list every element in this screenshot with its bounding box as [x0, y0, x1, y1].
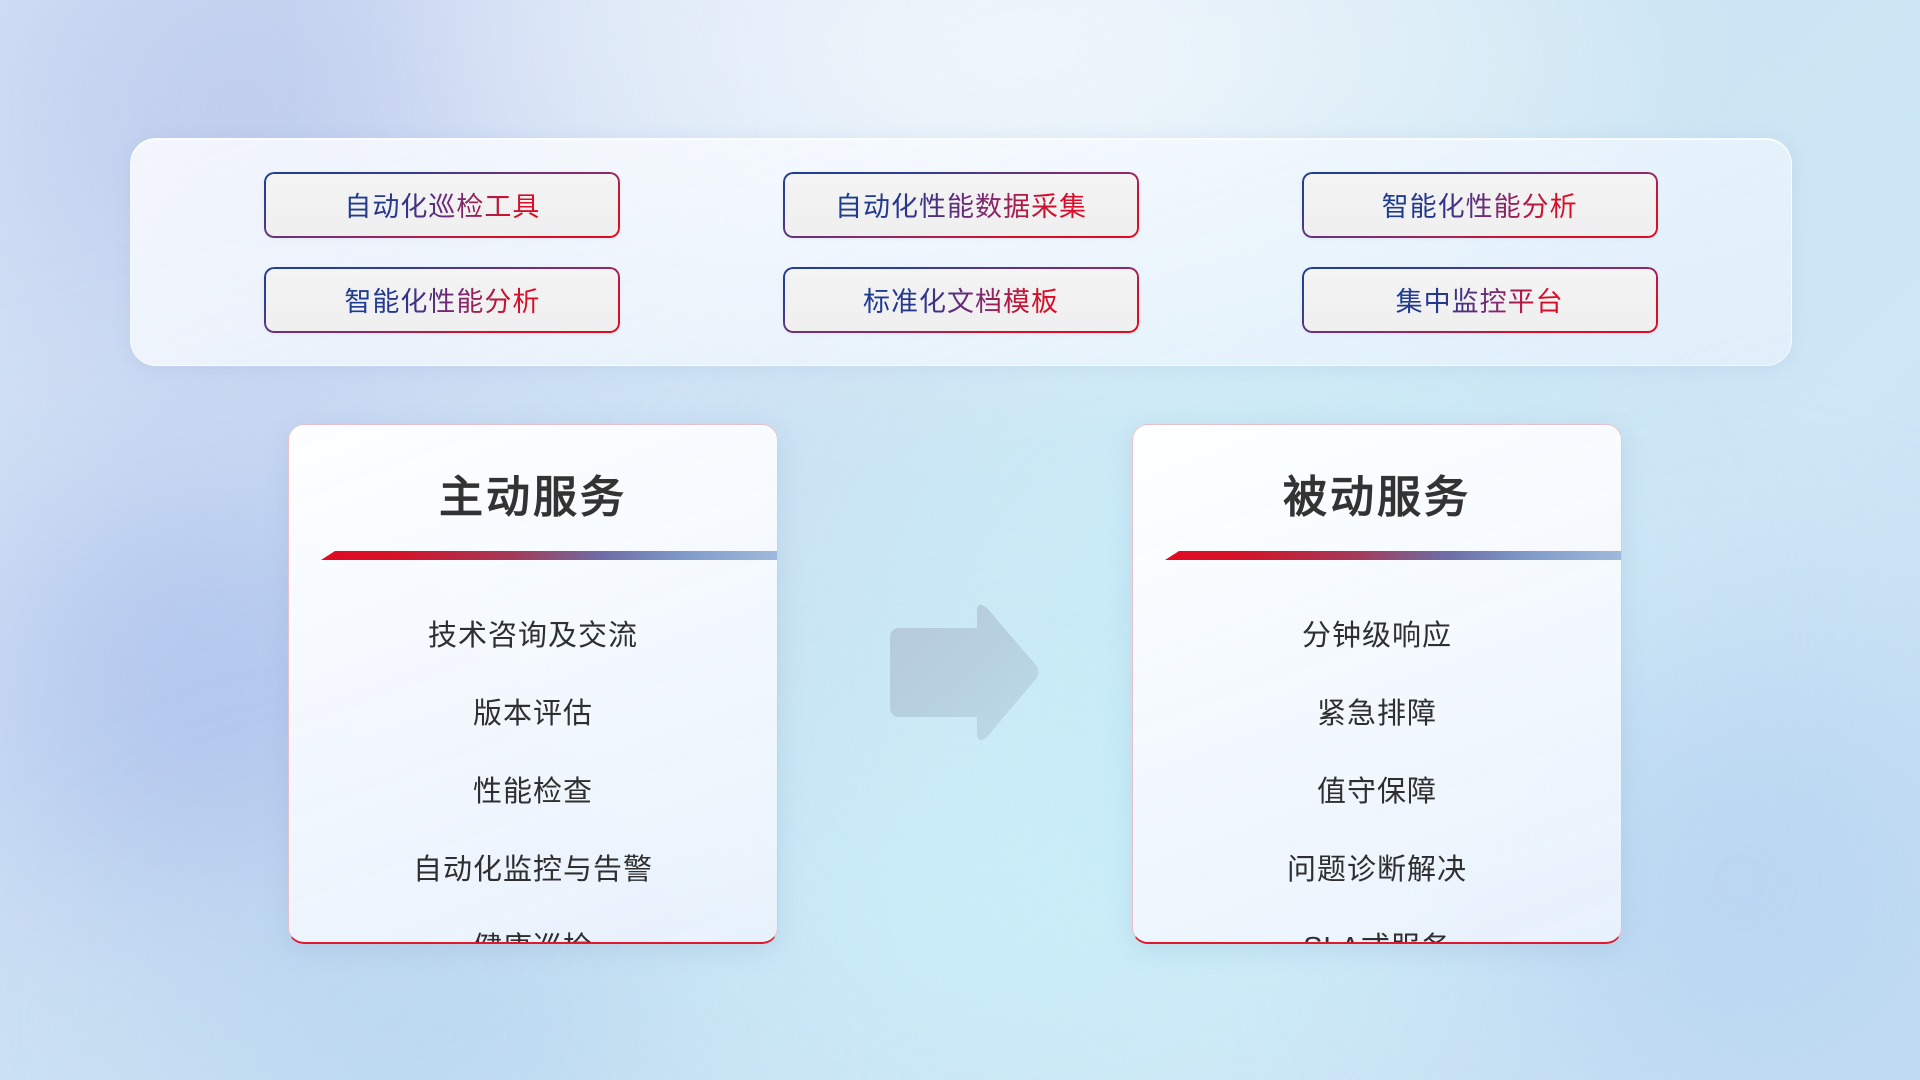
capability-pill[interactable]: 集中监控平台: [1302, 267, 1658, 333]
capability-pill-label: 集中监控平台: [1396, 280, 1564, 319]
right-arrow-icon: [880, 600, 1042, 745]
capability-pill[interactable]: 智能化性能分析: [264, 267, 620, 333]
list-item: 技术咨询及交流: [289, 594, 777, 672]
slide-canvas: 自动化巡检工具 自动化性能数据采集 智能化性能分析 智能化性能分析 标准化文档模…: [0, 0, 1920, 1080]
reactive-service-list: 分钟级响应 紧急排障 值守保障 问题诊断解决 SLA式服务: [1133, 560, 1621, 944]
capability-pill[interactable]: 自动化性能数据采集: [783, 172, 1139, 238]
capability-pill[interactable]: 标准化文档模板: [783, 267, 1139, 333]
list-item: 健康巡检: [289, 906, 777, 944]
list-item: SLA式服务: [1133, 906, 1621, 944]
reactive-card-divider: [1133, 551, 1621, 560]
capability-pill[interactable]: 智能化性能分析: [1302, 172, 1658, 238]
capability-pill[interactable]: 自动化巡检工具: [264, 172, 620, 238]
proactive-service-list: 技术咨询及交流 版本评估 性能检查 自动化监控与告警 健康巡检: [289, 560, 777, 944]
capability-pill-label: 自动化巡检工具: [344, 185, 540, 224]
capability-panel: 自动化巡检工具 自动化性能数据采集 智能化性能分析 智能化性能分析 标准化文档模…: [130, 138, 1792, 366]
capability-pill-label: 智能化性能分析: [344, 280, 540, 319]
proactive-service-card: 主动服务 技术咨询及交流 版本评估 性能检查 自动化监控与告警 健康巡检: [288, 424, 778, 944]
list-item: 紧急排障: [1133, 672, 1621, 750]
capability-pill-label: 标准化文档模板: [863, 280, 1059, 319]
list-item: 分钟级响应: [1133, 594, 1621, 672]
list-item: 性能检查: [289, 750, 777, 828]
capability-pill-label: 自动化性能数据采集: [835, 185, 1087, 224]
proactive-card-title: 主动服务: [289, 461, 777, 525]
list-item: 值守保障: [1133, 750, 1621, 828]
proactive-card-divider: [289, 551, 777, 560]
list-item: 版本评估: [289, 672, 777, 750]
divider-wedge: [321, 551, 777, 560]
reactive-service-card: 被动服务 分钟级响应 紧急排障 值守保障 问题诊断解决 SLA式服务: [1132, 424, 1622, 944]
capability-pill-label: 智能化性能分析: [1382, 185, 1578, 224]
list-item: 自动化监控与告警: [289, 828, 777, 906]
reactive-card-title: 被动服务: [1133, 461, 1621, 525]
divider-wedge: [1165, 551, 1621, 560]
list-item: 问题诊断解决: [1133, 828, 1621, 906]
